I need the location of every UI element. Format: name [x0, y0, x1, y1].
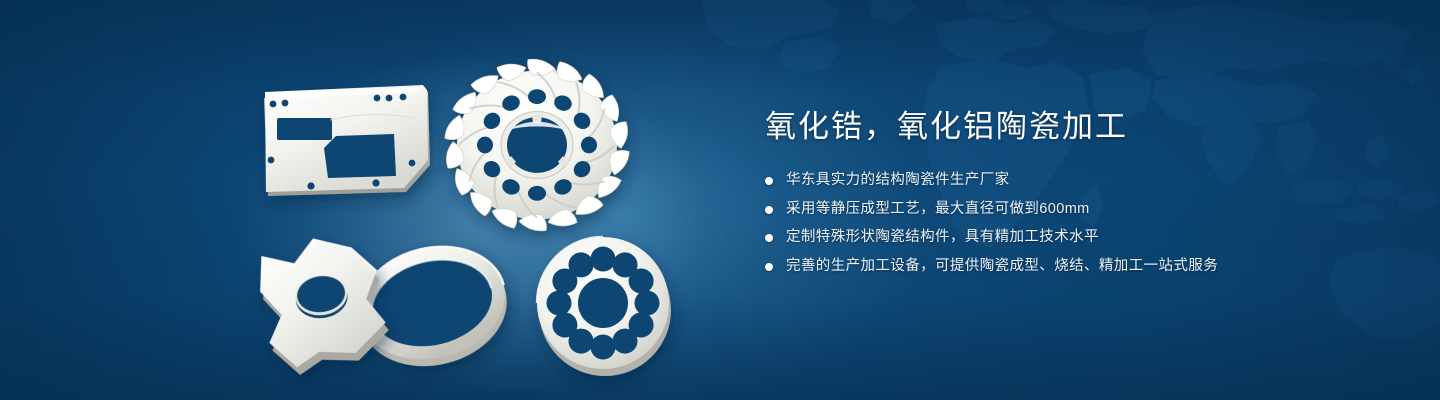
ceramic-perforated-disc — [537, 237, 671, 376]
ceramic-impeller-disc — [443, 59, 631, 232]
dot-icon — [765, 234, 773, 242]
ceramic-products-photo — [0, 0, 760, 400]
feature-text: 华东具实力的结构陶瓷件生产厂家 — [786, 171, 1010, 191]
ceramic-ring — [347, 232, 519, 381]
product-banner: 氧化锆，氧化铝陶瓷加工 华东具实力的结构陶瓷件生产厂家 采用等静压成型工艺，最大… — [0, 0, 1440, 400]
feature-text: 采用等静压成型工艺，最大直径可做到600mm — [786, 200, 1090, 220]
dot-icon — [765, 177, 773, 185]
banner-headline: 氧化锆，氧化铝陶瓷加工 — [765, 108, 1405, 145]
feature-list: 华东具实力的结构陶瓷件生产厂家 采用等静压成型工艺，最大直径可做到600mm 定… — [765, 171, 1405, 276]
feature-text: 完善的生产加工设备，可提供陶瓷成型、烧结、精加工一站式服务 — [786, 257, 1218, 277]
list-item: 采用等静压成型工艺，最大直径可做到600mm — [765, 200, 1405, 220]
dot-icon — [765, 263, 773, 271]
ceramic-plate-with-cutouts — [264, 85, 430, 196]
banner-copy: 氧化锆，氧化铝陶瓷加工 华东具实力的结构陶瓷件生产厂家 采用等静压成型工艺，最大… — [765, 108, 1405, 285]
feature-text: 定制特殊形状陶瓷结构件，具有精加工技术水平 — [786, 228, 1099, 248]
dot-icon — [765, 206, 773, 214]
list-item: 完善的生产加工设备，可提供陶瓷成型、烧结、精加工一站式服务 — [765, 257, 1405, 277]
list-item: 华东具实力的结构陶瓷件生产厂家 — [765, 171, 1405, 191]
list-item: 定制特殊形状陶瓷结构件，具有精加工技术水平 — [765, 228, 1405, 248]
